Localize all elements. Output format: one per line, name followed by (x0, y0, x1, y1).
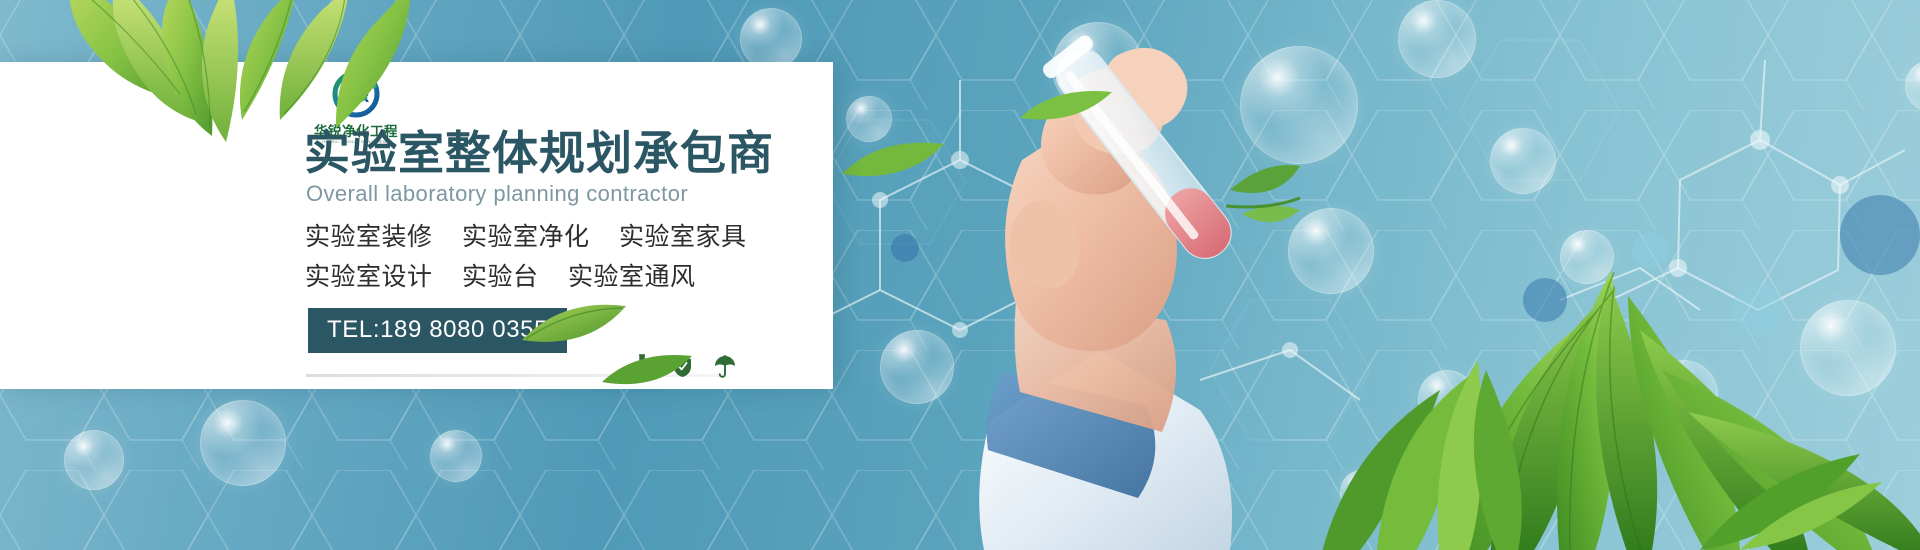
umbrella-icon (714, 355, 736, 378)
shield-icon (673, 355, 692, 378)
svg-text:R: R (357, 87, 369, 106)
service-item: 实验室设计 (305, 263, 433, 291)
service-item: 实验室净化 (462, 223, 590, 251)
service-item: 实验台 (462, 263, 539, 291)
service-item: 实验室家具 (619, 223, 747, 251)
headline: 实验室整体规划承包商 (304, 130, 774, 176)
hero-banner: H R 华锐净化工程 HUARUI JINGHUA GONGCHENG 实验室整… (0, 0, 1920, 550)
service-line-2: 实验室设计 实验台 实验室通风 (305, 257, 746, 297)
flask-icon (633, 354, 651, 378)
service-list: 实验室装修 实验室净化 实验室家具 实验室设计 实验台 实验室通风 (305, 217, 746, 297)
service-item: 实验室通风 (568, 263, 696, 291)
feature-icon-row (633, 354, 736, 378)
service-item: 实验室装修 (305, 223, 433, 251)
content-panel: H R 华锐净化工程 HUARUI JINGHUA GONGCHENG 实验室整… (0, 62, 833, 389)
logo-mark-icon: H R (332, 70, 380, 118)
service-line-1: 实验室装修 实验室净化 实验室家具 (305, 217, 746, 257)
telephone-button[interactable]: TEL:189 8080 0355 (308, 308, 567, 353)
subheadline: Overall laboratory planning contractor (306, 181, 688, 207)
